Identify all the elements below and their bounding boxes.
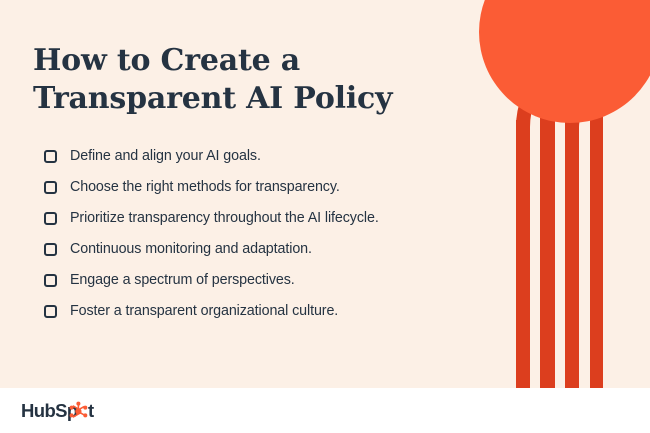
list-item: Continuous monitoring and adaptation.	[33, 241, 508, 259]
list-item-label: Continuous monitoring and adaptation.	[70, 241, 312, 259]
list-item: Prioritize transparency throughout the A…	[33, 210, 508, 228]
footer: HubSp t	[0, 388, 650, 433]
checkbox-icon[interactable]	[44, 274, 57, 287]
content-block: How to Create a Transparent AI Policy De…	[33, 42, 508, 321]
checkbox-icon[interactable]	[44, 212, 57, 225]
list-item: Choose the right methods for transparenc…	[33, 179, 508, 197]
concentric-arcs-group	[523, 48, 602, 127]
main-panel: How to Create a Transparent AI Policy De…	[0, 0, 650, 388]
page-title-line-2: Transparent AI Policy	[33, 80, 453, 118]
list-item: Engage a spectrum of perspectives.	[33, 272, 508, 290]
checkbox-icon[interactable]	[44, 181, 57, 194]
checkbox-icon[interactable]	[44, 150, 57, 163]
vertical-stripes-group	[516, 48, 603, 388]
checkbox-icon[interactable]	[44, 305, 57, 318]
list-item: Define and align your AI goals.	[33, 148, 508, 166]
checklist: Define and align your AI goals. Choose t…	[33, 148, 508, 321]
infographic-canvas: How to Create a Transparent AI Policy De…	[0, 0, 650, 433]
hubspot-wordmark-part-1: HubSp	[21, 400, 78, 421]
page-title: How to Create a Transparent AI Policy	[33, 42, 453, 119]
list-item-label: Choose the right methods for transparenc…	[70, 179, 340, 197]
hubspot-logo[interactable]: HubSp t	[21, 400, 109, 422]
list-item-label: Engage a spectrum of perspectives.	[70, 272, 295, 290]
checkbox-icon[interactable]	[44, 243, 57, 256]
list-item: Foster a transparent organizational cult…	[33, 303, 508, 321]
list-item-label: Define and align your AI goals.	[70, 148, 261, 166]
page-title-line-1: How to Create a	[33, 42, 453, 80]
list-item-label: Foster a transparent organizational cult…	[70, 303, 338, 321]
hubspot-wordmark-part-2: t	[88, 400, 94, 421]
list-item-label: Prioritize transparency throughout the A…	[70, 210, 379, 228]
